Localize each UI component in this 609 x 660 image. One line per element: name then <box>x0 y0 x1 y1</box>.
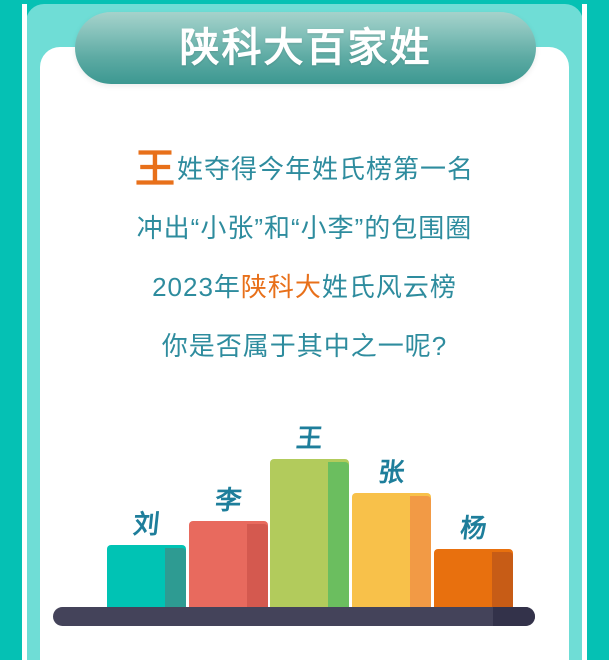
headline-copy: 王姓夺得今年姓氏榜第一名 冲出“小张”和“小李”的包围圈 2023年陕科大姓氏风… <box>40 140 569 376</box>
copy-line-4: 你是否属于其中之一呢? <box>40 317 569 376</box>
page-title: 陕科大百家姓 <box>180 28 432 68</box>
poster-root: 陕科大百家姓 王姓夺得今年姓氏榜第一名 冲出“小张”和“小李”的包围圈 2023… <box>0 0 609 660</box>
copy-line-1-rest: 姓夺得今年姓氏榜第一名 <box>177 154 474 184</box>
frame-gap-left <box>22 4 27 660</box>
copy-line-3-year: 2023年 <box>152 272 241 302</box>
title-banner: 陕科大百家姓 <box>75 12 536 84</box>
top-surname-highlight: 王 <box>135 147 176 191</box>
chart-base-bar <box>53 607 535 626</box>
copy-line-3-school: 陕科大 <box>241 272 322 302</box>
copy-line-1: 王姓夺得今年姓氏榜第一名 <box>40 140 569 199</box>
chart-base-cap <box>493 607 535 626</box>
copy-line-2: 冲出“小张”和“小李”的包围圈 <box>40 199 569 258</box>
copy-line-3-tail: 姓氏风云榜 <box>322 272 457 302</box>
frame-gap-right <box>582 4 587 660</box>
copy-line-3: 2023年陕科大姓氏风云榜 <box>40 258 569 317</box>
